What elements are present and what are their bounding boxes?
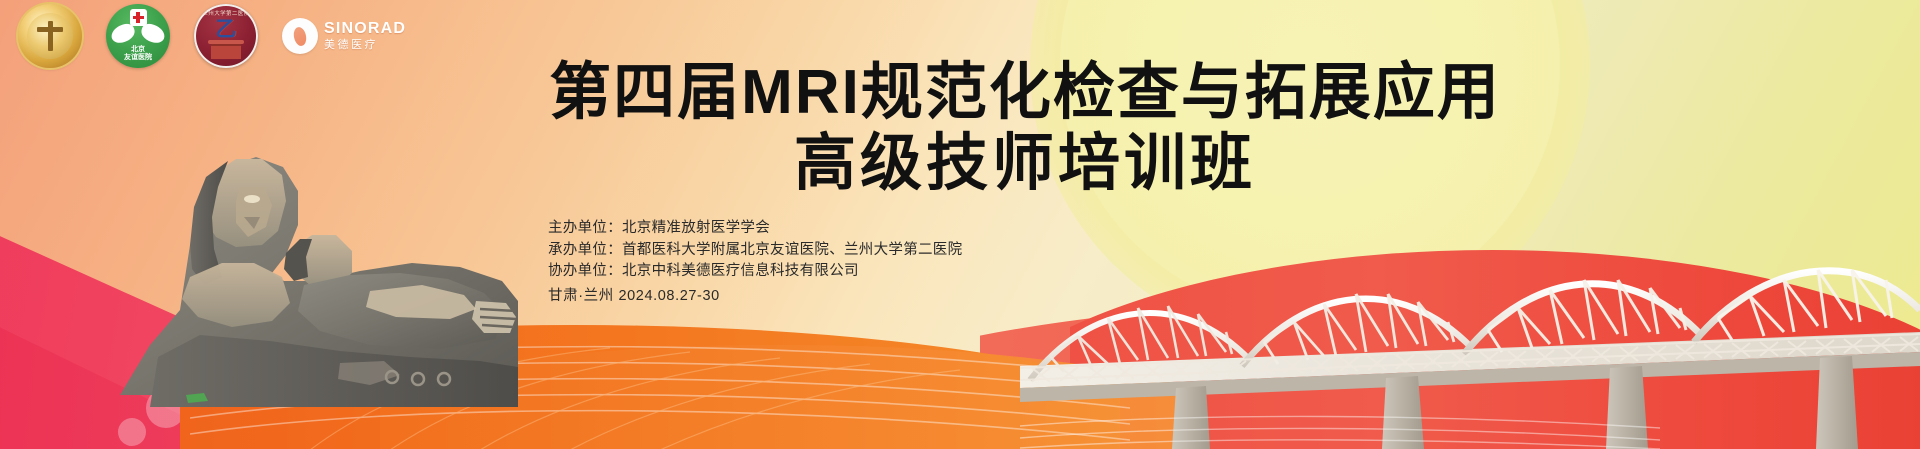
event-credits: 主办单位：北京精准放射医学学会 承办单位：首都医科大学附属北京友谊医院、兰州大学… [548, 218, 962, 307]
beijing-precision-radiology-society-logo [18, 4, 82, 68]
cross-icon [48, 21, 53, 51]
cross-icon-bar [37, 27, 63, 32]
zhongshan-bridge-illustration [1020, 190, 1920, 449]
hospital-logo-line2: 友谊医院 [124, 54, 152, 61]
gate-building-icon [211, 43, 241, 59]
sponsor-logo-row: 北京 友谊医院 兰州大学第二医院 乙 SINORAD 美德医疗 [18, 4, 402, 68]
hospital-logo-line1: 北京 [131, 46, 145, 53]
seal-monogram: 乙 [194, 20, 258, 40]
credits-place-date: 甘肃·兰州 2024.08.27-30 [548, 286, 962, 308]
sinorad-brand: SINORAD 美德医疗 [324, 21, 406, 51]
eye-mark-icon [282, 18, 318, 54]
credits-co-organizer: 协办单位：北京中科美德医疗信息科技有限公司 [548, 261, 962, 283]
sinorad-logo: SINORAD 美德医疗 [282, 6, 402, 66]
gold-seal-inner [27, 13, 73, 59]
eye-pupil [292, 25, 308, 46]
beijing-friendship-hospital-logo: 北京 友谊医院 [106, 4, 170, 68]
sinorad-brand-cn: 美德医疗 [324, 40, 406, 51]
hospital-logo-text: 北京 友谊医院 [106, 46, 170, 62]
yellow-river-mother-sculpture [40, 95, 520, 425]
event-banner: 北京 友谊医院 兰州大学第二医院 乙 SINORAD 美德医疗 第四届MRI规范… [0, 0, 1920, 449]
credits-organizer: 主办单位：北京精准放射医学学会 [548, 218, 962, 240]
seal-arc-text: 兰州大学第二医院 [194, 9, 258, 17]
sinorad-brand-en: SINORAD [324, 21, 406, 37]
credits-host: 承办单位：首都医科大学附属北京友谊医院、兰州大学第二医院 [548, 240, 962, 262]
lanzhou-university-second-hospital-logo: 兰州大学第二医院 乙 [194, 4, 258, 68]
red-cross-icon [130, 9, 147, 26]
